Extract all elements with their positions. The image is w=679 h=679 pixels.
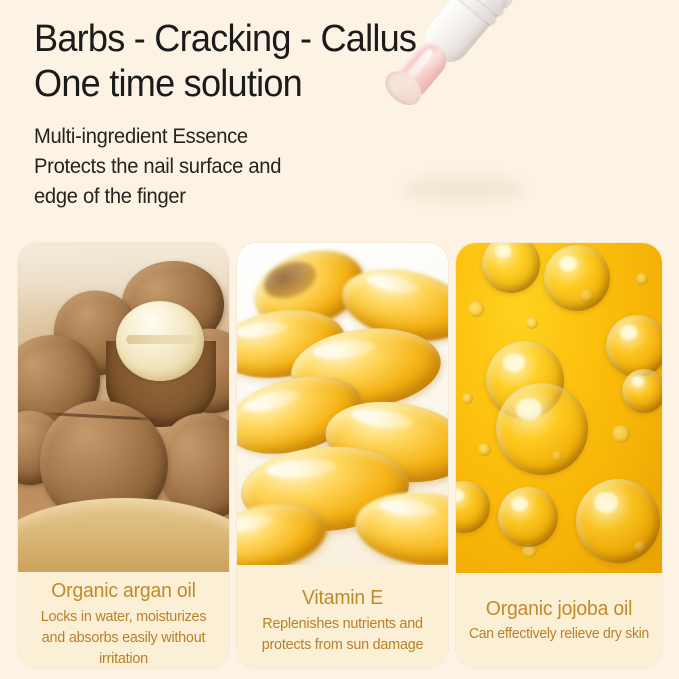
- product-banner: Barbs - Cracking - Callus One time solut…: [0, 0, 679, 679]
- subheading-line-2: Protects the nail surface and: [34, 152, 447, 182]
- oil-bubble: [606, 315, 662, 377]
- card-title: Organic jojoba oil: [466, 596, 652, 622]
- oil-bubble: [576, 479, 660, 563]
- micro-bubble: [636, 273, 648, 285]
- softgel-photo-background: [237, 243, 448, 565]
- card-description: Locks in water, moisturizes and absorbs …: [29, 606, 218, 668]
- oil-bubble: [456, 481, 490, 533]
- card-caption: Organic jojoba oil Can effectively relie…: [456, 573, 662, 668]
- headline-line-2: One time solution: [34, 63, 443, 106]
- pen-barrel: [473, 0, 629, 2]
- subheading-line-1: Multi-ingredient Essence: [34, 122, 447, 152]
- oil-bubble: [498, 487, 558, 547]
- vitamin-e-softgel-capsules-photo: [237, 243, 448, 565]
- card-title: Vitamin E: [247, 585, 438, 611]
- oil-photo-background: [456, 243, 662, 573]
- macadamia-kernel: [116, 301, 204, 381]
- ingredient-card-argan-oil: Organic argan oil Locks in water, moistu…: [18, 243, 229, 668]
- micro-bubble: [526, 317, 538, 329]
- micro-bubble: [478, 443, 491, 456]
- jojoba-oil-bubbles-photo: [456, 243, 662, 573]
- wooden-bowl-rim: [18, 498, 229, 572]
- ingredient-card-vitamin-e: Vitamin E Replenishes nutrients and prot…: [237, 243, 448, 668]
- headline-line-1: Barbs - Cracking - Callus: [34, 18, 443, 61]
- ingredient-card-jojoba-oil: Organic jojoba oil Can effectively relie…: [456, 243, 662, 668]
- ingredient-cards-row: Organic argan oil Locks in water, moistu…: [0, 243, 679, 668]
- card-caption: Vitamin E Replenishes nutrients and prot…: [237, 565, 448, 668]
- pen-ring-upper: [461, 0, 505, 17]
- micro-bubble: [468, 301, 484, 317]
- macadamia-nuts-photo: [18, 243, 229, 572]
- oil-bubble: [544, 245, 610, 311]
- card-description: Replenishes nutrients and protects from …: [248, 613, 437, 655]
- pen-shoulder: [467, 0, 517, 10]
- subheading-line-3: edge of the finger: [34, 182, 447, 212]
- oil-bubble: [496, 383, 588, 475]
- card-caption: Organic argan oil Locks in water, moistu…: [18, 572, 229, 668]
- card-description: Can effectively relieve dry skin: [467, 624, 651, 645]
- header-text-block: Barbs - Cracking - Callus One time solut…: [34, 18, 464, 212]
- subheading-block: Multi-ingredient Essence Protects the na…: [34, 122, 464, 212]
- nuts-photo-background: [18, 243, 229, 572]
- oil-bubble: [482, 243, 540, 293]
- card-title: Organic argan oil: [28, 578, 219, 604]
- micro-bubble: [462, 393, 473, 404]
- micro-bubble: [612, 425, 630, 443]
- oil-bubble: [622, 369, 662, 413]
